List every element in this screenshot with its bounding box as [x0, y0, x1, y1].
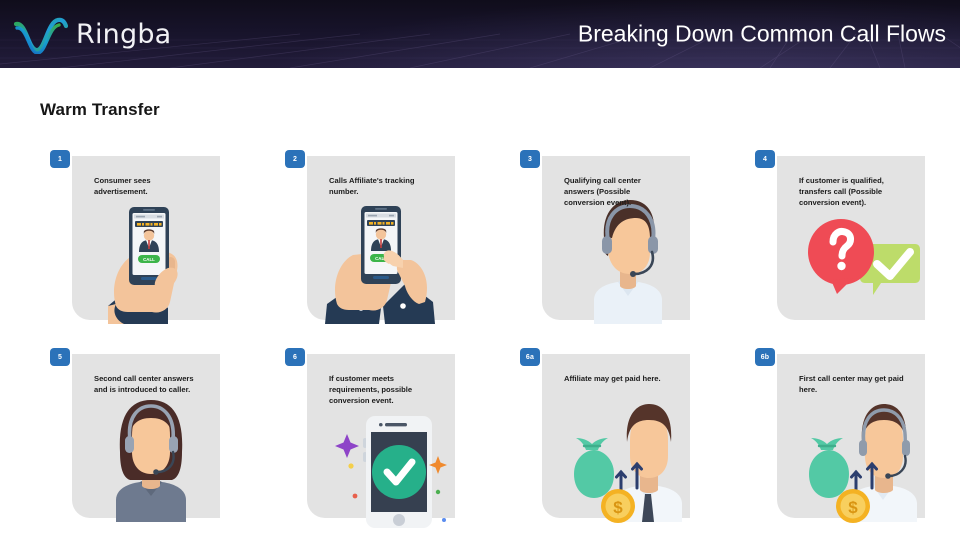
card-caption: Calls Affiliate's tracking number.	[329, 176, 437, 198]
deck-title: Breaking Down Common Call Flows	[578, 21, 946, 48]
slide-header: Ringba Breaking Down Common Call Flows	[0, 0, 960, 68]
card-badge: 3	[520, 150, 540, 168]
flow-card-2[interactable]: 2 Calls Affiliate's tracking number.	[285, 150, 455, 320]
card-caption: Consumer sees advertisement.	[94, 176, 202, 198]
flow-card-6b[interactable]: 6b First call center may get paid here.	[755, 348, 925, 518]
flow-card-4[interactable]: 4 If customer is qualified, transfers ca…	[755, 150, 925, 320]
card-caption: Qualifying call center answers (Possible…	[564, 176, 672, 208]
card-row: 5 Second call center answers and is intr…	[0, 348, 960, 546]
card-badge: 5	[50, 348, 70, 366]
svg-text:$: $	[848, 498, 858, 517]
flow-card-6a[interactable]: 6a Affiliate may get paid here.	[520, 348, 690, 518]
card-badge: 6b	[755, 348, 775, 366]
card-badge: 6	[285, 348, 305, 366]
flow-card-5[interactable]: 5 Second call center answers and is intr…	[50, 348, 220, 518]
card-badge: 4	[755, 150, 775, 168]
card-caption: Second call center answers and is introd…	[94, 374, 202, 396]
card-caption: If customer meets requirements, possible…	[329, 374, 437, 406]
flow-card-6[interactable]: 6 If customer meets requirements, possib…	[285, 348, 455, 518]
page-title: Warm Transfer	[40, 100, 160, 120]
brand-logo[interactable]: Ringba	[0, 14, 171, 54]
brand-name: Ringba	[76, 19, 171, 50]
svg-text:CALL: CALL	[143, 257, 155, 262]
card-caption: If customer is qualified, transfers call…	[799, 176, 907, 208]
card-grid: 1 Consumer sees advertisement.	[0, 150, 960, 546]
card-badge: 2	[285, 150, 305, 168]
card-badge: 6a	[520, 348, 540, 366]
slide: Ringba Breaking Down Common Call Flows W…	[0, 0, 960, 540]
card-caption: First call center may get paid here.	[799, 374, 907, 396]
flow-card-1[interactable]: 1 Consumer sees advertisement.	[50, 150, 220, 320]
card-row: 1 Consumer sees advertisement.	[0, 150, 960, 348]
svg-text:$: $	[613, 498, 623, 517]
flow-card-3[interactable]: 3 Qualifying call center answers (Possib…	[520, 150, 690, 320]
card-caption: Affiliate may get paid here.	[564, 374, 672, 385]
card-badge: 1	[50, 150, 70, 168]
ringba-wave-logo-icon	[14, 14, 68, 54]
